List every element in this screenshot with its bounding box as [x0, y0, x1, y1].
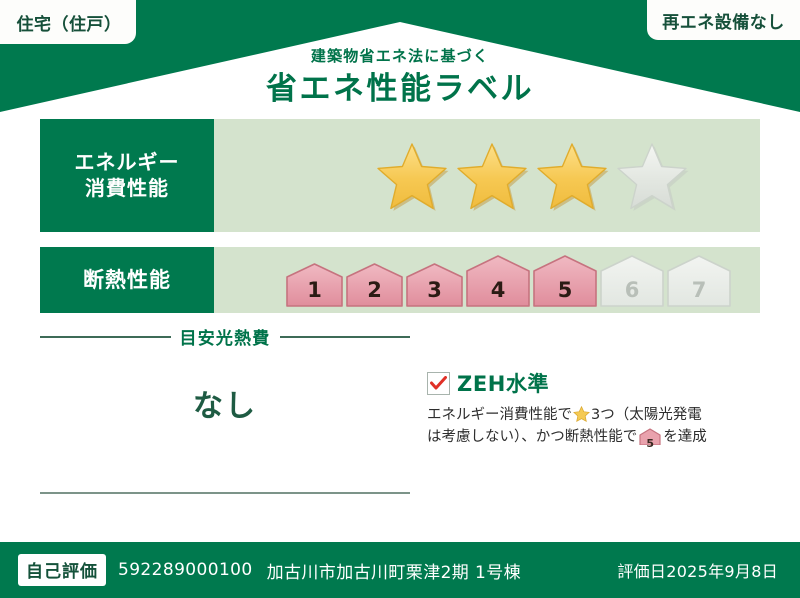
zeh-desc-part2: は考慮しない）、かつ断熱性能で: [427, 429, 637, 445]
tag-dwelling-type: 住宅（住戸）: [0, 0, 136, 44]
insulation-level-off: 6: [600, 255, 664, 307]
insulation-title-label: 断熱性能: [83, 267, 171, 294]
zeh-title-row: ZEH水準: [427, 368, 762, 398]
star-icon-empty: [615, 140, 689, 212]
insulation-level-off: 7: [667, 255, 731, 307]
insulation-level-scale: 1234567: [214, 247, 731, 313]
utility-cost-section: 目安光熱費 なし: [40, 324, 410, 425]
zeh-description: エネルギー消費性能で3つ（太陽光発電 は考慮しない）、かつ断熱性能で5を達成: [427, 404, 762, 453]
star-icon: [573, 406, 590, 422]
zeh-desc-part1: エネルギー消費性能で: [427, 407, 572, 423]
zeh-checkbox[interactable]: [427, 372, 450, 395]
label-footer: 自己評価 592289000100 加古川市加古川町栗津2期 1号棟 評価日20…: [0, 542, 800, 598]
insulation-level-number: 3: [406, 278, 463, 302]
tag-renewable-equipment: 再エネ設備なし: [647, 0, 800, 40]
tag-renewable-label: 再エネ設備なし: [662, 8, 785, 33]
footer-property-address: 加古川市加古川町栗津2期 1号棟: [267, 558, 521, 583]
utility-cost-heading-row: 目安光熱費: [40, 324, 410, 349]
utility-cost-heading: 目安光熱費: [180, 324, 271, 349]
insulation-level-number: 1: [286, 278, 343, 302]
tag-dwelling-label: 住宅（住戸）: [17, 10, 122, 35]
heading-title: 省エネ性能ラベル: [0, 69, 800, 109]
star-icon-filled: [535, 140, 609, 212]
zeh-title-label: ZEH水準: [457, 368, 549, 398]
energy-title-line1: エネルギー: [75, 150, 180, 176]
zeh-desc-part3: を達成: [663, 429, 707, 445]
zeh-standard-block: ZEH水準 エネルギー消費性能で3つ（太陽光発電 は考慮しない）、かつ断熱性能で…: [427, 368, 762, 453]
energy-performance-row: エネルギー 消費性能: [40, 119, 760, 232]
label-heading: 建築物省エネ法に基づく 省エネ性能ラベル: [0, 47, 800, 109]
insulation-level-on: 1: [286, 263, 343, 307]
rule-left: [40, 336, 171, 338]
energy-title-line2: 消費性能: [85, 176, 169, 202]
insulation-performance-title: 断熱性能: [40, 247, 214, 313]
energy-performance-body: [214, 119, 760, 232]
insulation-level-number: 7: [667, 278, 731, 302]
insulation-performance-row: 断熱性能 1234567: [40, 247, 760, 313]
insulation-level-on: 3: [406, 263, 463, 307]
insulation-level-on: 4: [466, 255, 530, 307]
star-icon-filled: [455, 140, 529, 212]
insulation-level-on: 2: [346, 263, 403, 307]
zeh-desc-star-count: 3つ（太陽光発電: [591, 407, 702, 423]
insulation-performance-body: 1234567: [214, 247, 760, 313]
check-icon: [430, 376, 447, 390]
insulation-badge-inline: 5: [639, 428, 661, 452]
footer-certificate-id: 592289000100: [118, 560, 253, 580]
insulation-level-number: 2: [346, 278, 403, 302]
utility-cost-value: なし: [40, 381, 410, 425]
insulation-level-number: 6: [600, 278, 664, 302]
insulation-level-number: 5: [533, 278, 597, 302]
energy-performance-title: エネルギー 消費性能: [40, 119, 214, 232]
insulation-level-on: 5: [533, 255, 597, 307]
star-rating: [214, 140, 689, 212]
star-icon-filled: [375, 140, 449, 212]
insulation-level-number: 4: [466, 278, 530, 302]
footer-evaluation-date: 評価日2025年9月8日: [617, 558, 778, 582]
heading-subtitle: 建築物省エネ法に基づく: [0, 47, 800, 66]
utility-cost-underline: [40, 492, 410, 494]
insulation-badge-inline-num: 5: [639, 435, 661, 452]
footer-evaluation-badge: 自己評価: [18, 554, 106, 586]
rule-right: [280, 336, 411, 338]
energy-performance-label: 住宅（住戸） 再エネ設備なし 建築物省エネ法に基づく 省エネ性能ラベル エネルギ…: [0, 0, 800, 598]
